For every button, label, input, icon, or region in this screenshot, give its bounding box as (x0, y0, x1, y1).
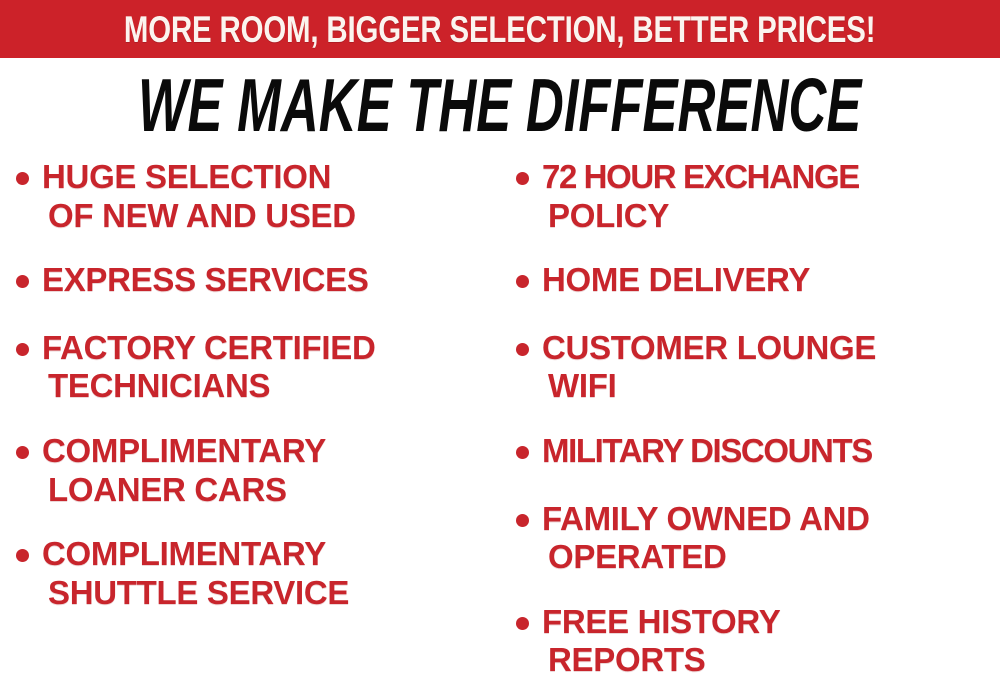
list-item-line2: SHUTTLE SERVICE (48, 574, 496, 613)
promotional-poster: MORE ROOM, BIGGER SELECTION, BETTER PRIC… (0, 0, 1000, 694)
bullet-dot-icon (16, 343, 29, 356)
list-item: HOME DELIVERY (516, 261, 1000, 300)
list-item-text: CUSTOMER LOUNGE WIFI (542, 329, 1000, 406)
list-item-line1: FACTORY CERTIFIED (42, 329, 376, 366)
list-item: FACTORY CERTIFIED TECHNICIANS (16, 329, 496, 406)
list-item-line1: MILITARY DISCOUNTS (542, 432, 872, 469)
list-item: 72 HOUR EXCHANGE POLICY (516, 158, 1000, 235)
list-item-text: MILITARY DISCOUNTS (542, 432, 1000, 471)
list-item-text: 72 HOUR EXCHANGE POLICY (542, 158, 1000, 235)
list-item-text: FREE HISTORY REPORTS (542, 603, 1000, 680)
bullet-dot-icon (516, 514, 529, 527)
list-item-line2: LOANER CARS (48, 471, 496, 510)
list-item-line1: EXPRESS SERVICES (42, 261, 369, 298)
list-item-text: FAMILY OWNED AND OPERATED (542, 500, 1000, 577)
features-column-right: 72 HOUR EXCHANGE POLICY HOME DELIVERY CU… (516, 158, 1000, 688)
list-item-text: HOME DELIVERY (542, 261, 1000, 300)
list-item-line1: COMPLIMENTARY (42, 535, 326, 572)
list-item: FAMILY OWNED AND OPERATED (516, 500, 1000, 577)
bullet-dot-icon (516, 275, 529, 288)
page-title: WE MAKE THE DIFFERENCE (138, 68, 861, 143)
list-item-line2: WIFI (548, 367, 1000, 406)
list-item: FREE HISTORY REPORTS (516, 603, 1000, 680)
bullet-dot-icon (16, 446, 29, 459)
list-item-line2: OF NEW AND USED (48, 197, 496, 236)
list-item: COMPLIMENTARY LOANER CARS (16, 432, 496, 509)
list-item-line1: CUSTOMER LOUNGE (542, 329, 876, 366)
bullet-dot-icon (16, 275, 29, 288)
list-item-line1: HOME DELIVERY (542, 261, 810, 298)
bullet-dot-icon (516, 446, 529, 459)
list-item: HUGE SELECTION OF NEW AND USED (16, 158, 496, 235)
headline-container: WE MAKE THE DIFFERENCE (0, 62, 1000, 148)
list-item-text: COMPLIMENTARY LOANER CARS (42, 432, 496, 509)
list-item-text: COMPLIMENTARY SHUTTLE SERVICE (42, 535, 496, 612)
list-item-line2: OPERATED (548, 538, 1000, 577)
features-columns: HUGE SELECTION OF NEW AND USED EXPRESS S… (0, 158, 1000, 688)
list-item: COMPLIMENTARY SHUTTLE SERVICE (16, 535, 496, 612)
bullet-dot-icon (16, 172, 29, 185)
list-item-text: HUGE SELECTION OF NEW AND USED (42, 158, 496, 235)
list-item-line2: REPORTS (548, 641, 1000, 680)
bullet-dot-icon (516, 172, 529, 185)
list-item-line1: FAMILY OWNED AND (542, 500, 870, 537)
bullet-dot-icon (516, 343, 529, 356)
banner-headline-text: MORE ROOM, BIGGER SELECTION, BETTER PRIC… (124, 11, 875, 48)
list-item-line1: 72 HOUR EXCHANGE (542, 158, 859, 195)
list-item-line1: HUGE SELECTION (42, 158, 331, 195)
list-item: EXPRESS SERVICES (16, 261, 496, 300)
list-item-text: FACTORY CERTIFIED TECHNICIANS (42, 329, 496, 406)
top-banner: MORE ROOM, BIGGER SELECTION, BETTER PRIC… (0, 0, 1000, 58)
list-item-line2: POLICY (548, 197, 1000, 236)
list-item: CUSTOMER LOUNGE WIFI (516, 329, 1000, 406)
list-item-line1: FREE HISTORY (542, 603, 780, 640)
list-item-line2: TECHNICIANS (48, 367, 496, 406)
list-item-text: EXPRESS SERVICES (42, 261, 496, 300)
bullet-dot-icon (16, 549, 29, 562)
list-item: MILITARY DISCOUNTS (516, 432, 1000, 471)
list-item-line1: COMPLIMENTARY (42, 432, 326, 469)
bullet-dot-icon (516, 617, 529, 630)
features-column-left: HUGE SELECTION OF NEW AND USED EXPRESS S… (16, 158, 496, 688)
